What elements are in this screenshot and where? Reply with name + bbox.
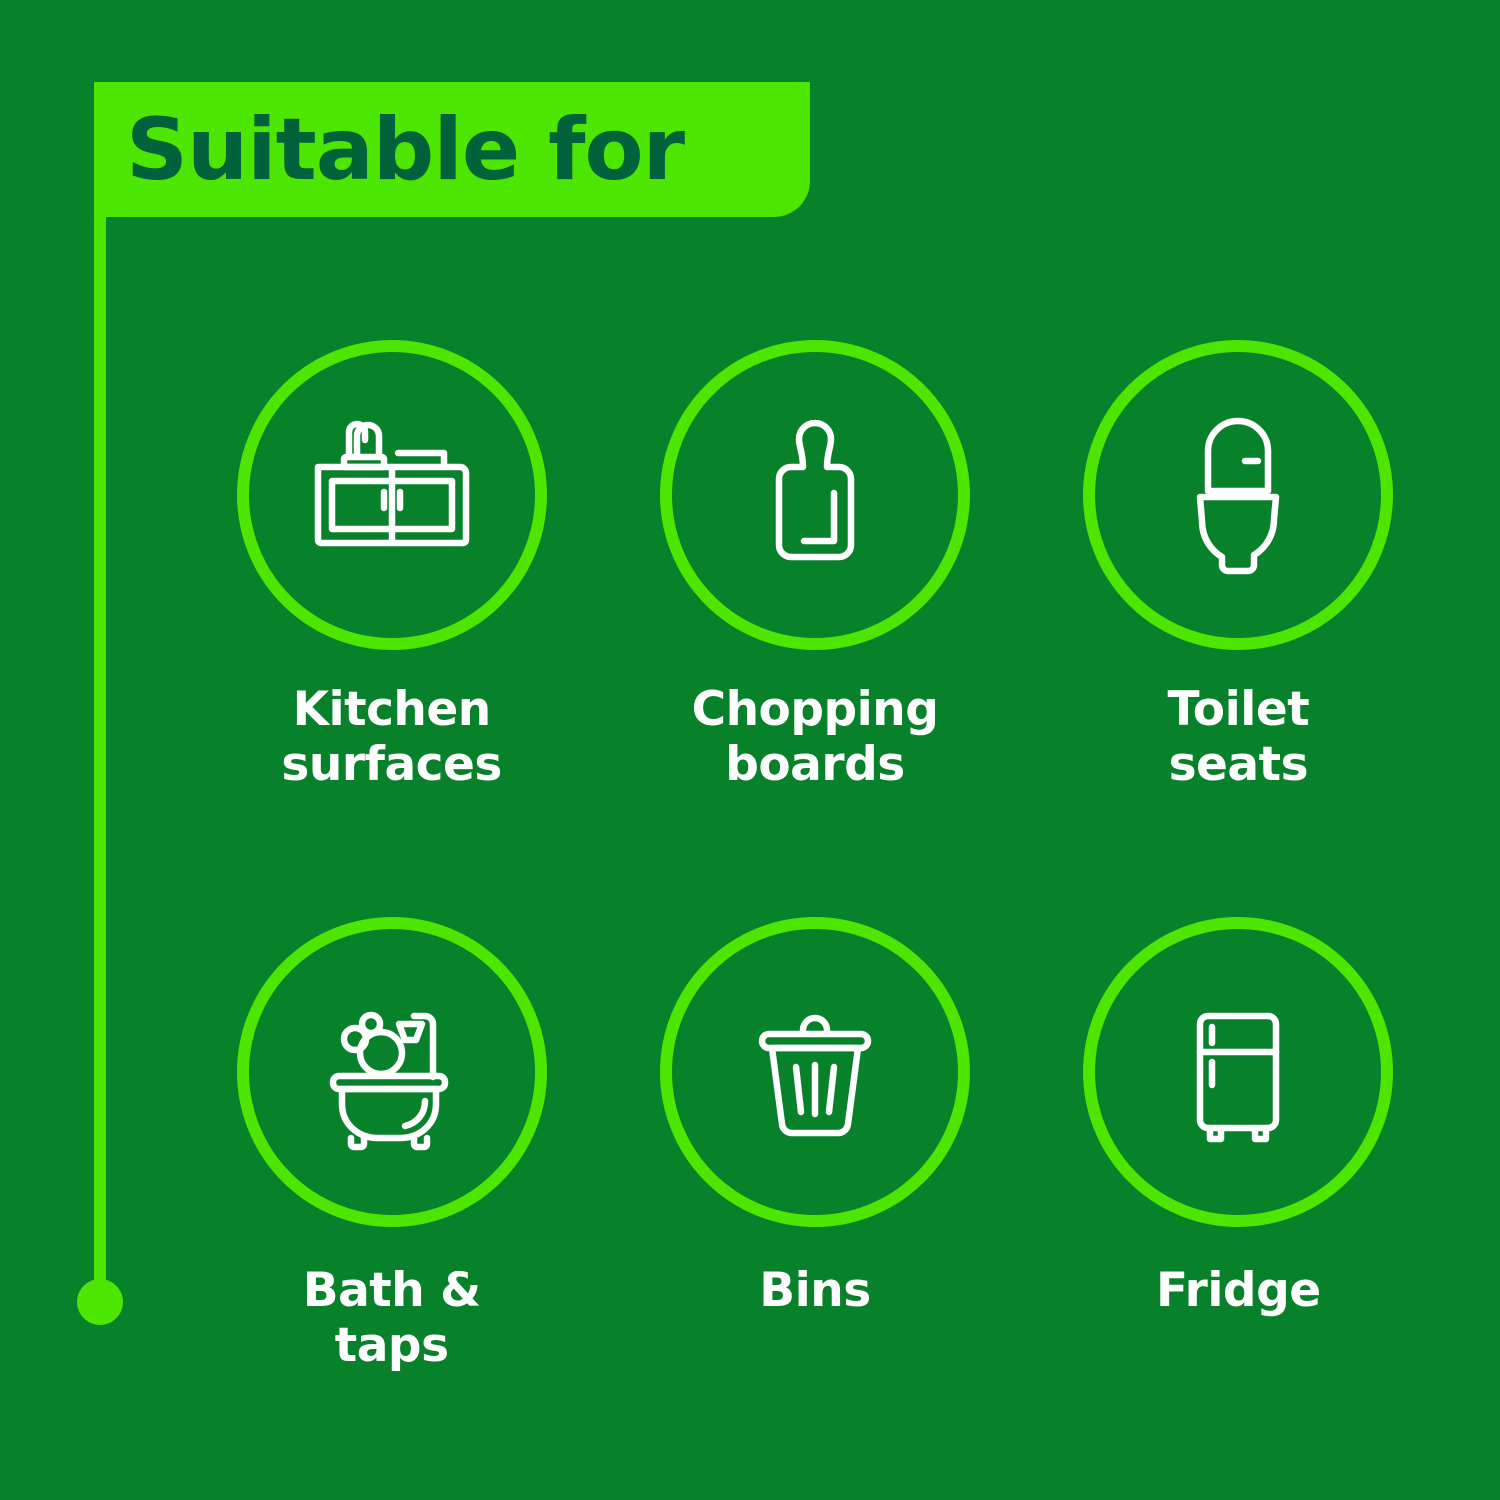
item-bins: Bins: [603, 917, 1026, 1374]
item-label: Chopping boards: [692, 682, 939, 793]
icon-circle-fridge: [1083, 917, 1393, 1227]
item-label: Bath & taps: [303, 1263, 481, 1374]
kitchen-sink-icon: [292, 395, 492, 595]
chopping-board-icon: [715, 395, 915, 595]
icon-circle-bins: [660, 917, 970, 1227]
connector-line: [94, 217, 106, 1285]
page-title: Suitable for: [126, 107, 684, 193]
item-label: Bins: [759, 1263, 870, 1318]
suitable-for-infographic: Suitable for: [0, 0, 1500, 1500]
item-fridge: Fridge: [1027, 917, 1450, 1374]
icon-circle-toilet-seats: [1083, 340, 1393, 650]
items-grid: Kitchen surfaces Chopping boards: [180, 340, 1450, 1374]
refrigerator-icon: [1138, 972, 1338, 1172]
item-label: Toilet seats: [1167, 682, 1309, 793]
toilet-icon: [1138, 395, 1338, 595]
item-label: Fridge: [1156, 1263, 1321, 1318]
icon-circle-bath-taps: [237, 917, 547, 1227]
item-chopping-boards: Chopping boards: [603, 340, 1026, 793]
item-label: Kitchen surfaces: [281, 682, 502, 793]
bathtub-shower-icon: [292, 972, 492, 1172]
item-bath-taps: Bath & taps: [180, 917, 603, 1374]
item-toilet-seats: Toilet seats: [1027, 340, 1450, 793]
item-kitchen-surfaces: Kitchen surfaces: [180, 340, 603, 793]
header-banner: Suitable for: [94, 82, 810, 217]
icon-circle-kitchen-surfaces: [237, 340, 547, 650]
trash-bin-icon: [715, 972, 915, 1172]
icon-circle-chopping-boards: [660, 340, 970, 650]
connector-dot: [77, 1279, 123, 1325]
